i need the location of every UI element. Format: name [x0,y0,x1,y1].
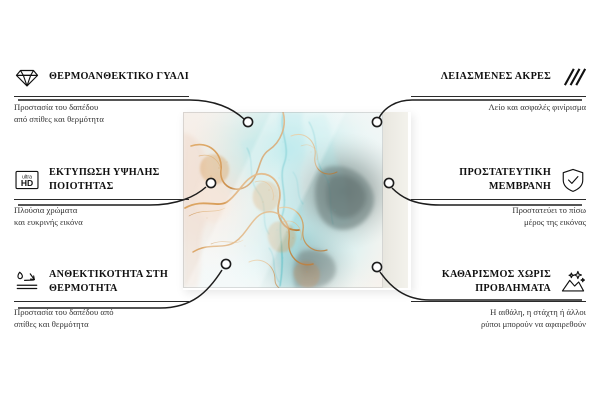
feature-header: ultra HD ΕΚΤΥΠΩΣΗ ΥΨΗΛΗΣ ΠΟΙΟΤΗΤΑΣ [14,166,189,193]
feature-description-line-1: Προστασία του δαπέδου [14,102,189,114]
feature-description: Προστασία του δαπέδου από σπίθες και θερ… [14,102,189,125]
feature-block-heat-resistance: ΑΝΘΕΚΤΙΚΟΤΗΤΑ ΣΤΗ ΘΕΡΜΟΤΗΤΑ Προστασία το… [14,268,189,330]
feature-title: ΕΚΤΥΠΩΣΗ ΥΨΗΛΗΣ ΠΟΙΟΤΗΤΑΣ [49,166,189,193]
feature-divider [411,199,586,200]
feature-header: ΑΝΘΕΚΤΙΚΟΤΗΤΑ ΣΤΗ ΘΕΡΜΟΤΗΤΑ [14,268,189,295]
feature-block-polished-edges: ΛΕΙΑΣΜΕΝΕΣ ΑΚΡΕΣ Λείο και ασφαλές φινίρι… [411,64,586,114]
feature-description-line-1: Πλούσια χρώματα [14,205,189,217]
product-glass-panel [183,112,383,288]
feature-title: ΑΝΘΕΚΤΙΚΟΤΗΤΑ ΣΤΗ ΘΕΡΜΟΤΗΤΑ [49,268,189,295]
feature-divider [14,199,189,200]
heat-resistance-icon [14,269,40,295]
feature-block-high-quality-print: ultra HD ΕΚΤΥΠΩΣΗ ΥΨΗΛΗΣ ΠΟΙΟΤΗΤΑΣ Πλούσ… [14,166,189,228]
feature-title: ΠΡΟΣΤΑΤΕΥΤΙΚΗ ΜΕΜΒΡΑΝΗ [411,166,551,193]
feature-description-line-2: σπίθες και θερμότητα [14,319,189,331]
feature-title: ΚΑΘΑΡΙΣΜΟΣ ΧΩΡΙΣ ΠΡΟΒΛΗΜΑΤΑ [411,268,551,295]
feature-header: ΠΡΟΣΤΑΤΕΥΤΙΚΗ ΜΕΜΒΡΑΝΗ [411,166,586,193]
feature-description-line-1: Η αιθάλη, η στάχτη ή άλλοι [411,307,586,319]
ultra-hd-large-label: HD [21,178,33,188]
polished-edges-icon [560,64,586,90]
feature-description: Λείο και ασφαλές φινίρισμα [411,102,586,114]
feature-block-protective-membrane: ΠΡΟΣΤΑΤΕΥΤΙΚΗ ΜΕΜΒΡΑΝΗ Προστατεύει το πί… [411,166,586,228]
feature-divider [14,96,189,97]
feature-description: Προστασία του δαπέδου από σπίθες και θερ… [14,307,189,330]
feature-description: Η αιθάλη, η στάχτη ή άλλοι ρύποι μπορούν… [411,307,586,330]
abstract-marble-artwork [183,112,383,288]
feature-description-line-1: Προστασία του δαπέδου από [14,307,189,319]
shield-check-icon [560,167,586,193]
feature-header: ΘΕΡΜΟΑΝΘΕΚΤΙΚΟ ΓΥΑΛΙ [14,64,189,90]
feature-header: ΚΑΘΑΡΙΣΜΟΣ ΧΩΡΙΣ ΠΡΟΒΛΗΜΑΤΑ [411,268,586,295]
feature-description: Πλούσια χρώματα και ευκρινής εικόνα [14,205,189,228]
feature-description-line-2: ρύποι μπορούν να αφαιρεθούν [411,319,586,331]
diamond-icon [14,64,40,90]
easy-clean-icon [560,269,586,295]
feature-block-heat-resistant-glass: ΘΕΡΜΟΑΝΘΕΚΤΙΚΟ ΓΥΑΛΙ Προστασία του δαπέδ… [14,64,189,125]
infographic-canvas: ΘΕΡΜΟΑΝΘΕΚΤΙΚΟ ΓΥΑΛΙ Προστασία του δαπέδ… [0,0,600,400]
feature-description-line-1: Λείο και ασφαλές φινίρισμα [411,102,586,114]
feature-title: ΘΕΡΜΟΑΝΘΕΚΤΙΚΟ ΓΥΑΛΙ [49,70,189,84]
feature-divider [411,96,586,97]
ultra-hd-icon: ultra HD [14,167,40,193]
feature-description-line-2: από σπίθες και θερμότητα [14,114,189,126]
product-image [183,112,408,288]
feature-divider [411,301,586,302]
feature-description-line-2: μέρος της εικόνας [411,217,586,229]
feature-block-easy-cleaning: ΚΑΘΑΡΙΣΜΟΣ ΧΩΡΙΣ ΠΡΟΒΛΗΜΑΤΑ Η αιθάλη, η … [411,268,586,330]
feature-description: Προστατεύει το πίσω μέρος της εικόνας [411,205,586,228]
feature-header: ΛΕΙΑΣΜΕΝΕΣ ΑΚΡΕΣ [411,64,586,90]
feature-description-line-1: Προστατεύει το πίσω [411,205,586,217]
feature-divider [14,301,189,302]
feature-title: ΛΕΙΑΣΜΕΝΕΣ ΑΚΡΕΣ [411,70,551,84]
feature-description-line-2: και ευκρινής εικόνα [14,217,189,229]
